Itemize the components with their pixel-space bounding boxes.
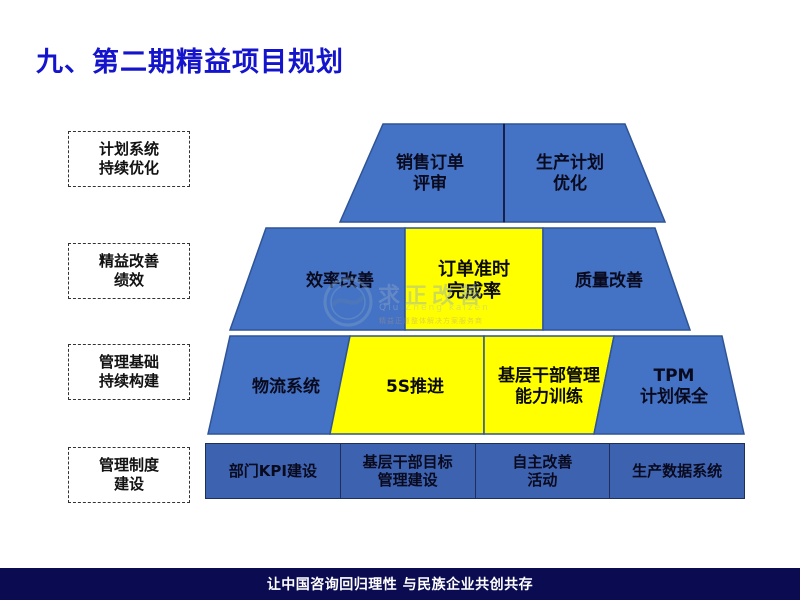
pyramid-diagram: [0, 0, 800, 600]
bottom-cell-0-line1: 部门KPI建设: [229, 462, 317, 480]
bottom-cell-0[interactable]: 部门KPI建设: [206, 444, 341, 498]
side-label-1-line1: 精益改善: [99, 252, 159, 272]
bottom-cell-2-line2: 活动: [527, 471, 557, 489]
tier1-cell-0-shape[interactable]: [340, 124, 504, 222]
tier2-cell-0-shape[interactable]: [230, 228, 405, 330]
tier2-cell-2-shape[interactable]: [543, 228, 690, 330]
side-label-2-line1: 管理基础: [99, 353, 159, 373]
footer-bar: 让中国咨询回归理性 与民族企业共创共存: [0, 568, 800, 600]
bottom-cell-1-line2: 管理建设: [378, 471, 438, 489]
side-label-3-line2: 建设: [114, 475, 144, 495]
side-label-2-line2: 持续构建: [99, 372, 159, 392]
side-label-3-line1: 管理制度: [99, 456, 159, 476]
foundation-row: 部门KPI建设 基层干部目标 管理建设 自主改善 活动 生产数据系统: [205, 443, 745, 499]
side-label-0-line1: 计划系统: [99, 140, 159, 160]
side-label-lean-performance: 精益改善 绩效: [68, 243, 190, 299]
tier1-cell-1-shape[interactable]: [504, 124, 665, 222]
bottom-cell-2-line1: 自主改善: [512, 453, 572, 471]
tier3-cell-0-shape[interactable]: [208, 336, 350, 434]
pyramid-tier-3: [208, 336, 744, 434]
pyramid-tier-1: [340, 124, 665, 222]
side-label-0-line2: 持续优化: [99, 159, 159, 179]
side-label-plan-system: 计划系统 持续优化: [68, 131, 190, 187]
bottom-cell-1[interactable]: 基层干部目标 管理建设: [341, 444, 476, 498]
bottom-cell-3-line1: 生产数据系统: [632, 462, 722, 480]
tier3-cell-2-shape[interactable]: [484, 336, 614, 434]
slide-canvas: 九、第二期精益项目规划 销售订单 评审 生产计划 优化 效率改善: [0, 0, 800, 600]
tier3-cell-3-shape[interactable]: [594, 336, 744, 434]
tier2-cell-1-shape[interactable]: [405, 228, 543, 330]
bottom-cell-2[interactable]: 自主改善 活动: [476, 444, 611, 498]
footer-slogan: 让中国咨询回归理性 与民族企业共创共存: [267, 574, 533, 594]
side-label-management-foundation: 管理基础 持续构建: [68, 344, 190, 400]
bottom-cell-3[interactable]: 生产数据系统: [610, 444, 744, 498]
pyramid-tier-2: [230, 228, 690, 330]
side-label-1-line2: 绩效: [114, 271, 144, 291]
bottom-cell-1-line1: 基层干部目标: [363, 453, 453, 471]
tier3-cell-1-shape[interactable]: [330, 336, 484, 434]
side-label-management-system: 管理制度 建设: [68, 447, 190, 503]
